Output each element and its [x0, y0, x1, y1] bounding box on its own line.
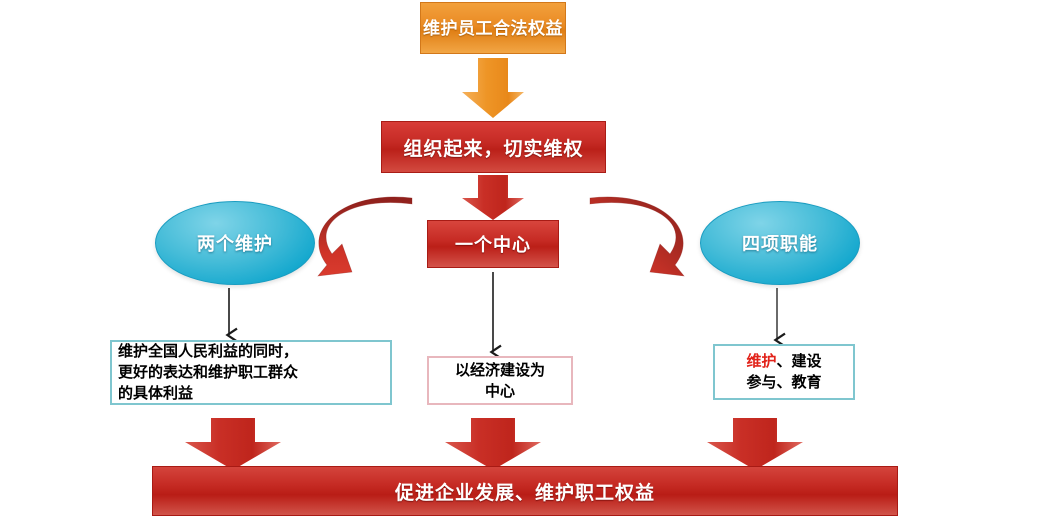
- red-down-arrow-center-bottom-icon: [445, 418, 541, 470]
- ellipse-left-label: 两个维护: [197, 230, 273, 256]
- center-box-label: 一个中心: [455, 231, 531, 257]
- ellipse-right-label: 四项职能: [742, 230, 818, 256]
- headline-box-label: 组织起来，切实维权: [403, 134, 583, 161]
- detail-center-line1: 以经济建设为: [455, 362, 545, 379]
- center-one-core-box[interactable]: 一个中心: [427, 220, 559, 268]
- ellipse-two-safeguards[interactable]: 两个维护: [155, 201, 315, 285]
- bottom-banner-label: 促进企业发展、维护职工权益: [395, 478, 655, 505]
- detail-left-line1: 维护全国人民利益的同时，: [118, 343, 298, 360]
- detail-right-line1-rest: 、建设: [777, 353, 822, 370]
- detail-right-text: 维护、建设 参与、教育: [746, 351, 821, 393]
- detail-right-highlight: 维护: [746, 353, 776, 370]
- detail-left-line2: 更好的表达和维护职工群众: [118, 364, 298, 381]
- red-down-arrow-headline-icon: [462, 175, 524, 220]
- detail-box-center[interactable]: 以经济建设为 中心: [427, 356, 573, 405]
- detail-left-line3: 的具体利益: [118, 385, 193, 402]
- ellipse-four-functions[interactable]: 四项职能: [700, 201, 860, 285]
- detail-center-text: 以经济建设为 中心: [455, 360, 545, 402]
- goal-box-label: 维护员工合法权益: [423, 17, 563, 40]
- red-down-arrow-right-bottom-icon: [707, 418, 803, 470]
- goal-box[interactable]: 维护员工合法权益: [420, 2, 566, 54]
- detail-right-line1: 维护、建设: [746, 353, 821, 370]
- red-curved-left-arrow-icon: [318, 197, 412, 276]
- detail-left-text: 维护全国人民利益的同时， 更好的表达和维护职工群众 的具体利益: [118, 341, 384, 404]
- red-curved-right-arrow-icon: [590, 197, 684, 276]
- detail-box-right[interactable]: 维护、建设 参与、教育: [713, 344, 855, 400]
- headline-box[interactable]: 组织起来，切实维权: [381, 121, 606, 173]
- orange-down-arrow-icon: [462, 58, 524, 118]
- detail-right-line2: 参与、教育: [746, 374, 821, 391]
- detail-center-line2: 中心: [485, 383, 515, 400]
- flowchart-canvas: 维护员工合法权益 组织起来，切实维权 两个维护 一个中心 四项职能 维护全国人民…: [0, 0, 1050, 525]
- bottom-outcome-banner[interactable]: 促进企业发展、维护职工权益: [152, 466, 898, 516]
- detail-box-left[interactable]: 维护全国人民利益的同时， 更好的表达和维护职工群众 的具体利益: [110, 340, 392, 405]
- red-down-arrow-left-bottom-icon: [185, 418, 281, 470]
